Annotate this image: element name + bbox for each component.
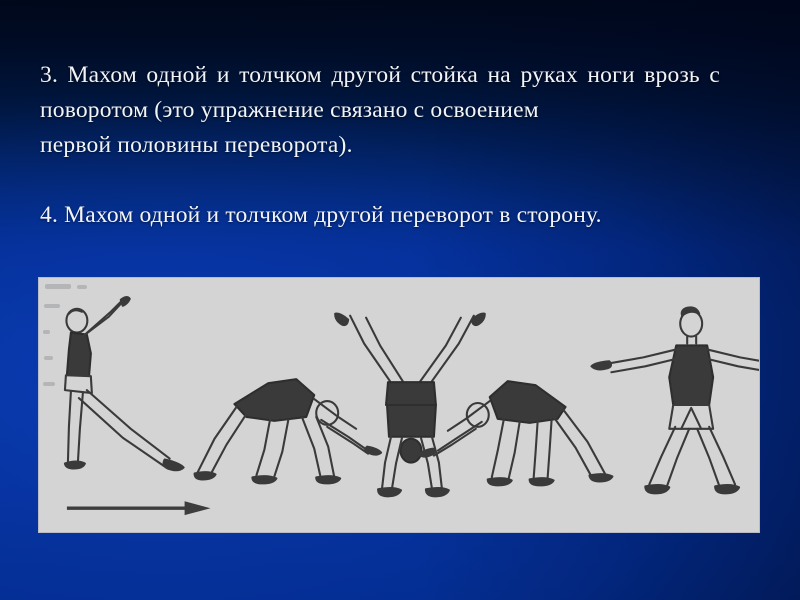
illustration-panel — [38, 277, 760, 533]
scan-noise-mark — [44, 356, 53, 360]
paragraph-4-line-1: 4. Махом одной и толчком другой переворо… — [40, 202, 602, 228]
movement-direction-arrow — [67, 501, 211, 515]
scan-noise-mark — [77, 285, 87, 289]
gymnast-figure-2 — [195, 379, 381, 483]
scan-noise-mark — [45, 284, 71, 289]
paragraph-3: 3. Махом одной и толчком другой стойка н… — [40, 58, 720, 163]
slide: 3. Махом одной и толчком другой стойка н… — [0, 0, 800, 600]
gymnast-figure-3 — [335, 314, 485, 497]
paragraph-3-line-3: первой половины переворота). — [40, 128, 720, 163]
scan-noise-mark — [44, 304, 60, 308]
gymnast-figure-4 — [419, 381, 612, 485]
scan-noise-mark — [43, 330, 50, 334]
paragraph-4: 4. Махом одной и толчком другой переворо… — [40, 198, 720, 233]
scan-noise-mark — [43, 382, 55, 386]
paragraph-3-line-1: 3. Махом одной и толчком другой стойка н… — [40, 62, 635, 88]
gymnast-figure-1 — [65, 297, 184, 470]
gymnast-figure-5 — [591, 307, 759, 493]
gymnastics-cartwheel-sequence-illustration — [39, 278, 759, 532]
slide-text-block: 3. Махом одной и толчком другой стойка н… — [40, 58, 720, 233]
